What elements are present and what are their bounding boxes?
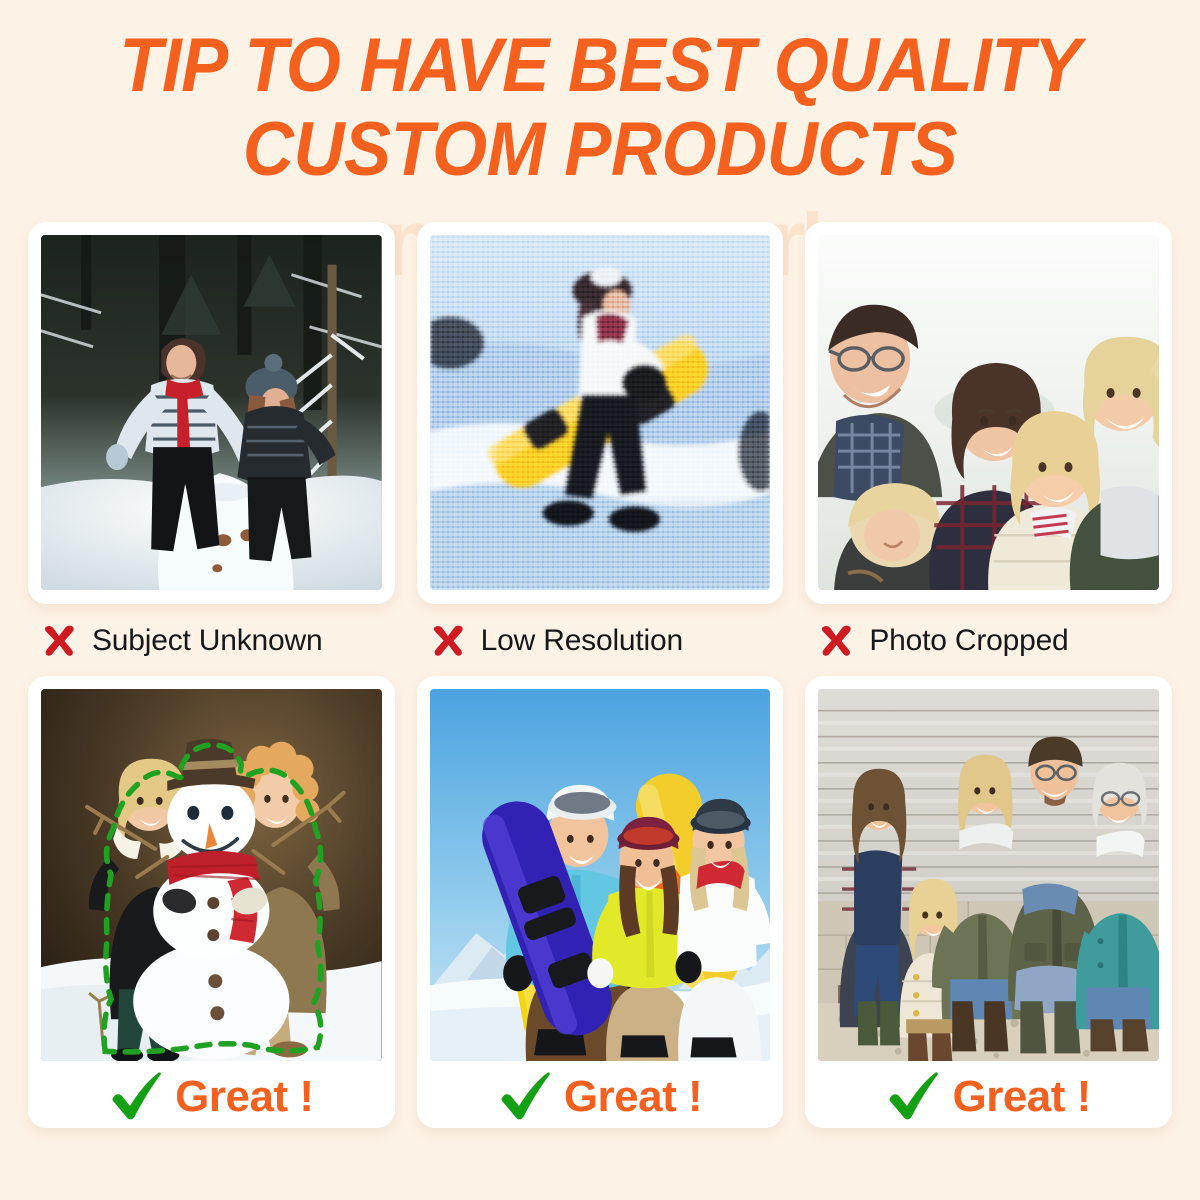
photo-card (28, 222, 395, 604)
photo-card (805, 222, 1172, 604)
status-label-row: Great ! (430, 1061, 771, 1133)
green-check-icon (498, 1068, 552, 1127)
photo-card: Great ! (417, 676, 784, 1128)
status-label-text: Photo Cropped (869, 624, 1068, 658)
status-label-row: Photo Cropped (805, 604, 1172, 664)
status-label-text: Great ! (564, 1072, 702, 1122)
status-label-text: Great ! (175, 1072, 313, 1122)
page-title-line-1: TIP TO HAVE BEST QUALITY (42, 24, 1158, 108)
red-cross-icon (40, 620, 78, 663)
page-title-line-2: CUSTOM PRODUCTS (42, 108, 1158, 192)
status-label-row: Great ! (41, 1061, 382, 1133)
photo-two-women-building-snowman-in-dark-snowy-forest (41, 235, 382, 590)
status-label-text: Subject Unknown (92, 624, 322, 658)
example-card-great-snowboarders: Great ! (417, 676, 784, 1128)
photo-pixelated-snowboarder-carrying-yellow-board (430, 235, 771, 590)
example-card-low-resolution: Low Resolution (417, 222, 784, 664)
page-title: TIP TO HAVE BEST QUALITY CUSTOM PRODUCTS (42, 24, 1158, 192)
example-card-great-family: Great ! (805, 676, 1172, 1128)
photo-card: Great ! (805, 676, 1172, 1128)
red-cross-icon (429, 620, 467, 663)
example-card-photo-cropped: Photo Cropped (805, 222, 1172, 664)
example-card-subject-unknown: Subject Unknown (28, 222, 395, 664)
photo-two-women-hugging-snowman-with-green-dashed-subject-outline (41, 689, 382, 1061)
example-card-great-snowman: Great ! (28, 676, 395, 1128)
status-label-row: Great ! (818, 1061, 1159, 1133)
red-cross-icon (817, 620, 855, 663)
green-check-icon (109, 1068, 163, 1127)
examples-grid: Subject Unknown (28, 222, 1172, 1128)
status-label-text: Low Resolution (481, 624, 683, 658)
photo-family-of-five-standing-against-wooden-barn-wall (818, 689, 1159, 1061)
photo-family-of-five-close-up-heads-cropped-at-edges (818, 235, 1159, 590)
photo-card: Great ! (28, 676, 395, 1128)
photo-three-snowboarders-on-sunny-mountain-with-colorful-boards (430, 689, 771, 1061)
status-label-row: Low Resolution (417, 604, 784, 664)
status-label-row: Subject Unknown (28, 604, 395, 664)
status-label-text: Great ! (952, 1072, 1090, 1122)
green-check-icon (886, 1068, 940, 1127)
photo-card (417, 222, 784, 604)
